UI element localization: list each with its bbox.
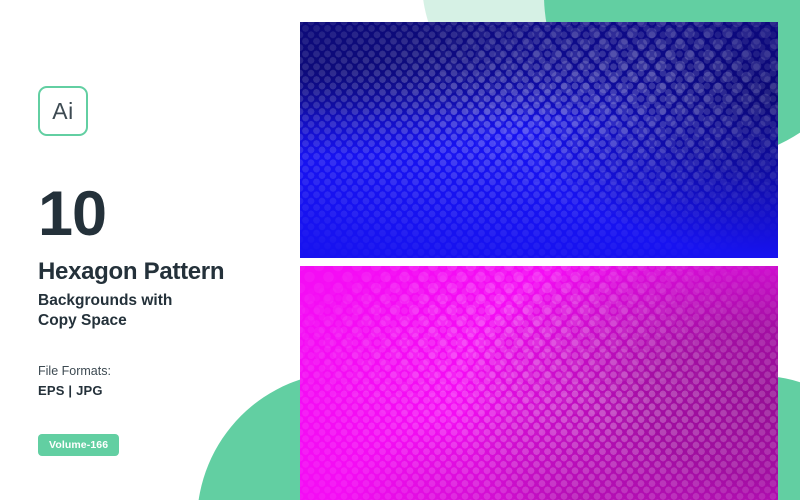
file-formats-value: EPS | JPG bbox=[38, 383, 288, 398]
volume-badge: Volume-166 bbox=[38, 434, 119, 456]
info-column: Ai 10 Hexagon Pattern Backgrounds with C… bbox=[38, 86, 288, 456]
page-subtitle-line1: Backgrounds with bbox=[38, 291, 288, 311]
file-formats-label: File Formats: bbox=[38, 364, 288, 378]
page-subtitle-line2: Copy Space bbox=[38, 311, 288, 331]
preview-page: Ai 10 Hexagon Pattern Backgrounds with C… bbox=[0, 0, 800, 500]
magenta-hexagon-dots-coarse bbox=[300, 266, 778, 500]
blue-hexagon-preview bbox=[300, 22, 778, 258]
adobe-illustrator-label: Ai bbox=[52, 100, 73, 123]
item-count: 10 bbox=[38, 185, 288, 245]
page-title: Hexagon Pattern bbox=[38, 259, 288, 286]
blue-hexagon-dots-coarse bbox=[300, 22, 778, 258]
magenta-hexagon-preview bbox=[300, 266, 778, 500]
page-subtitle: Backgrounds with Copy Space bbox=[38, 291, 288, 332]
adobe-illustrator-badge-icon: Ai bbox=[38, 86, 88, 136]
